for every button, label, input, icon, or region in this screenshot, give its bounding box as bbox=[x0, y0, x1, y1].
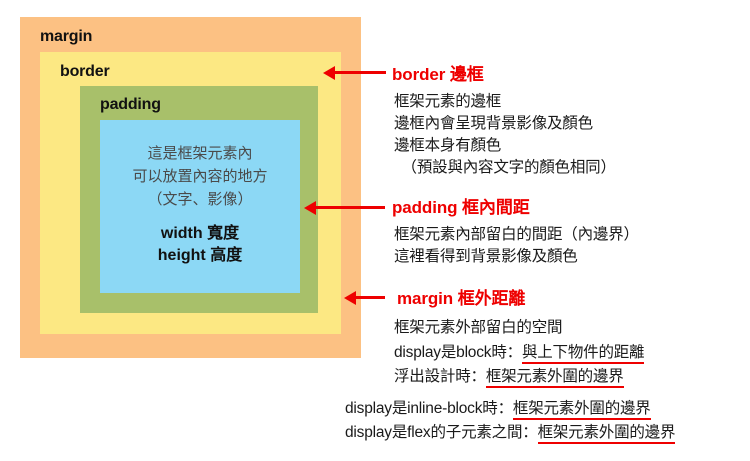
border-note-line: 框架元素的邊框 bbox=[394, 89, 501, 111]
margin-note-line-emphasis: 框架元素外圍的邊界 bbox=[513, 400, 651, 420]
padding-note-line: 框架元素內部留白的間距（內邊界） bbox=[394, 222, 639, 244]
margin-note-line-prefix: 浮出設計時： bbox=[394, 368, 486, 385]
content-height-label: height 高度 bbox=[158, 245, 242, 267]
border-note-line: （預設與內容文字的顏色相同） bbox=[394, 155, 616, 177]
margin-note-line-prefix: display是block時： bbox=[394, 344, 522, 361]
padding-layer-label: padding bbox=[100, 96, 161, 114]
margin-note-line: display是block時：與上下物件的距離 bbox=[394, 340, 644, 362]
margin-note-line: 浮出設計時：框架元素外圍的邊界 bbox=[394, 364, 624, 386]
arrow-left-icon bbox=[344, 291, 356, 305]
content-text-line: 可以放置內容的地方 bbox=[132, 165, 267, 188]
content-width-label: width 寬度 bbox=[161, 223, 239, 245]
border-callout-arrow-left-icon bbox=[334, 71, 386, 74]
margin-layer-label: margin bbox=[40, 28, 92, 46]
border-note-line: 邊框本身有顏色 bbox=[394, 133, 501, 155]
margin-note-line: display是inline-block時：框架元素外圍的邊界 bbox=[345, 396, 651, 418]
content-layer: 這是框架元素內 可以放置內容的地方 （文字、影像） width 寬度 heigh… bbox=[100, 120, 300, 293]
box-model-diagram: margin border padding 這是框架元素內 可以放置內容的地方 … bbox=[20, 17, 361, 358]
arrow-left-icon bbox=[304, 201, 316, 215]
content-text-line: 這是框架元素內 bbox=[147, 142, 252, 165]
border-note-line: 邊框內會呈現背景影像及顏色 bbox=[394, 111, 593, 133]
annotations-panel: border 邊框 框架元素的邊框 邊框內會呈現背景影像及顏色 邊框本身有顏色 … bbox=[389, 0, 750, 461]
margin-note-heading: margin 框外距離 bbox=[397, 284, 525, 309]
margin-note-line-prefix: display是inline-block時： bbox=[345, 400, 513, 417]
margin-note-line-prefix: display是flex的子元素之間： bbox=[345, 424, 538, 441]
margin-note-line: display是flex的子元素之間：框架元素外圍的邊界 bbox=[345, 420, 675, 442]
margin-note-line-emphasis: 框架元素外圍的邊界 bbox=[538, 424, 676, 444]
padding-layer: padding 這是框架元素內 可以放置內容的地方 （文字、影像） width … bbox=[80, 86, 318, 313]
margin-layer: margin border padding 這是框架元素內 可以放置內容的地方 … bbox=[20, 17, 361, 358]
margin-note-line-emphasis: 與上下物件的距離 bbox=[522, 344, 644, 364]
border-layer: border padding 這是框架元素內 可以放置內容的地方 （文字、影像）… bbox=[40, 52, 341, 334]
padding-note-heading: padding 框內間距 bbox=[392, 193, 530, 218]
margin-note-line: 框架元素外部留白的空間 bbox=[394, 315, 562, 337]
padding-note-line: 這裡看得到背景影像及顏色 bbox=[394, 244, 578, 266]
arrow-left-icon bbox=[323, 66, 335, 80]
margin-note-line-emphasis: 框架元素外圍的邊界 bbox=[486, 368, 624, 388]
padding-callout-arrow-left-icon bbox=[315, 206, 385, 209]
content-text-line: （文字、影像） bbox=[147, 188, 252, 211]
border-layer-label: border bbox=[60, 63, 109, 81]
margin-callout-arrow-left-icon bbox=[355, 296, 385, 299]
border-note-heading: border 邊框 bbox=[392, 60, 484, 85]
